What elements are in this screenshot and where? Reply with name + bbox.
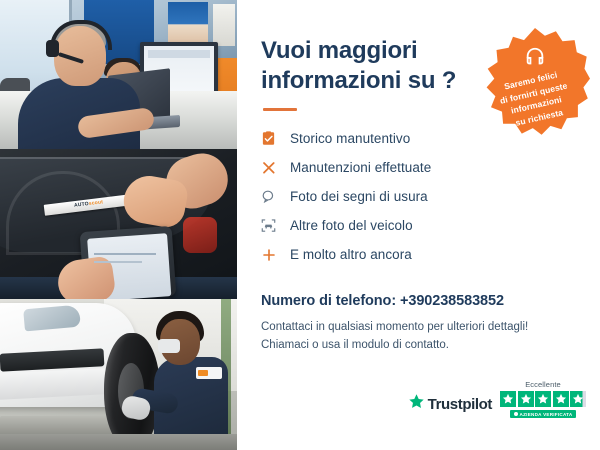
- verified-check-icon: [514, 412, 518, 416]
- rating-star: [518, 391, 534, 407]
- mechanic-uniform-badge: [196, 367, 222, 379]
- trustpilot-logo: Trustpilot: [408, 393, 492, 418]
- rating-star-partial: [570, 391, 586, 407]
- feature-label: Storico manutentivo: [290, 131, 410, 146]
- photo-column: AUTOscout: [0, 0, 237, 450]
- wall-poster-secondary: [213, 4, 235, 46]
- trustpilot-star-icon: [408, 393, 425, 415]
- content-panel: Vuoi maggiori informazioni su ? Saremo f…: [237, 0, 600, 450]
- list-item: Foto dei segni di usura: [261, 183, 578, 210]
- feature-label: Manutenzioni effettuate: [290, 160, 431, 175]
- rating-star: [553, 391, 569, 407]
- rating-star: [500, 391, 516, 407]
- phone-line[interactable]: Numero di telefono: +390238583852: [261, 293, 578, 309]
- feature-label: E molto altro ancora: [290, 247, 412, 262]
- list-item: Altre foto del veicolo: [261, 212, 578, 239]
- contact-note: Contattaci in qualsiasi momento per ulte…: [261, 318, 578, 355]
- rating-star: [535, 391, 551, 407]
- list-item: Manutenzioni effettuate: [261, 154, 578, 181]
- mechanic-face-mask: [158, 339, 180, 353]
- car-scan-icon: [261, 217, 283, 235]
- feature-label: Altre foto del veicolo: [290, 218, 413, 233]
- callout-badge: Saremo felici di fornirti queste informa…: [480, 28, 590, 138]
- plus-icon: [261, 246, 283, 264]
- monitor-screen-content: [148, 50, 210, 58]
- mechanic-wheel-photo: [0, 299, 237, 450]
- contact-note-line-1: Contattaci in qualsiasi momento per ulte…: [261, 318, 578, 336]
- title-divider: [263, 108, 297, 111]
- call-center-agents-photo: [0, 0, 237, 149]
- tablet-screen-line: [94, 253, 156, 255]
- feature-list: Storico manutentivo Manutenzioni effettu…: [261, 125, 578, 268]
- contact-block: Numero di telefono: +390238583852 Contat…: [261, 293, 578, 355]
- headset-icon: [524, 46, 546, 68]
- list-item: E molto altro ancora: [261, 241, 578, 268]
- clipboard-check-icon: [261, 130, 283, 148]
- trustpilot-stars: [500, 391, 586, 407]
- headline-line-2: informazioni su ?: [261, 66, 476, 96]
- wrench-cross-icon: [261, 159, 283, 177]
- verified-badge-label: AZIENDA VERIFICATA: [520, 412, 573, 417]
- trustpilot-wordmark: Trustpilot: [428, 396, 492, 413]
- trustpilot-widget[interactable]: Trustpilot Eccellente: [408, 380, 586, 418]
- feature-label: Foto dei segni di usura: [290, 189, 428, 204]
- trustpilot-rating: Eccellente: [500, 380, 586, 418]
- headset-earcup: [46, 40, 59, 57]
- tail-light: [183, 217, 217, 253]
- workshop-floor: [0, 434, 237, 450]
- verified-business-badge: AZIENDA VERIFICATA: [510, 410, 577, 418]
- tablet-screen-line-secondary: [94, 261, 142, 263]
- contact-note-line-2: Chiamaci o usa il modulo di contatto.: [261, 336, 578, 354]
- promo-banner: AUTOscout: [0, 0, 600, 450]
- page-title: Vuoi maggiori informazioni su ?: [261, 36, 476, 95]
- magnifier-icon: [261, 188, 283, 206]
- trustpilot-rating-label: Eccellente: [525, 380, 561, 389]
- headline-line-1: Vuoi maggiori: [261, 37, 418, 64]
- phone-number[interactable]: +390238583852: [400, 293, 504, 309]
- car-body-inspection-photo: AUTOscout: [0, 149, 237, 299]
- phone-label: Numero di telefono:: [261, 293, 396, 309]
